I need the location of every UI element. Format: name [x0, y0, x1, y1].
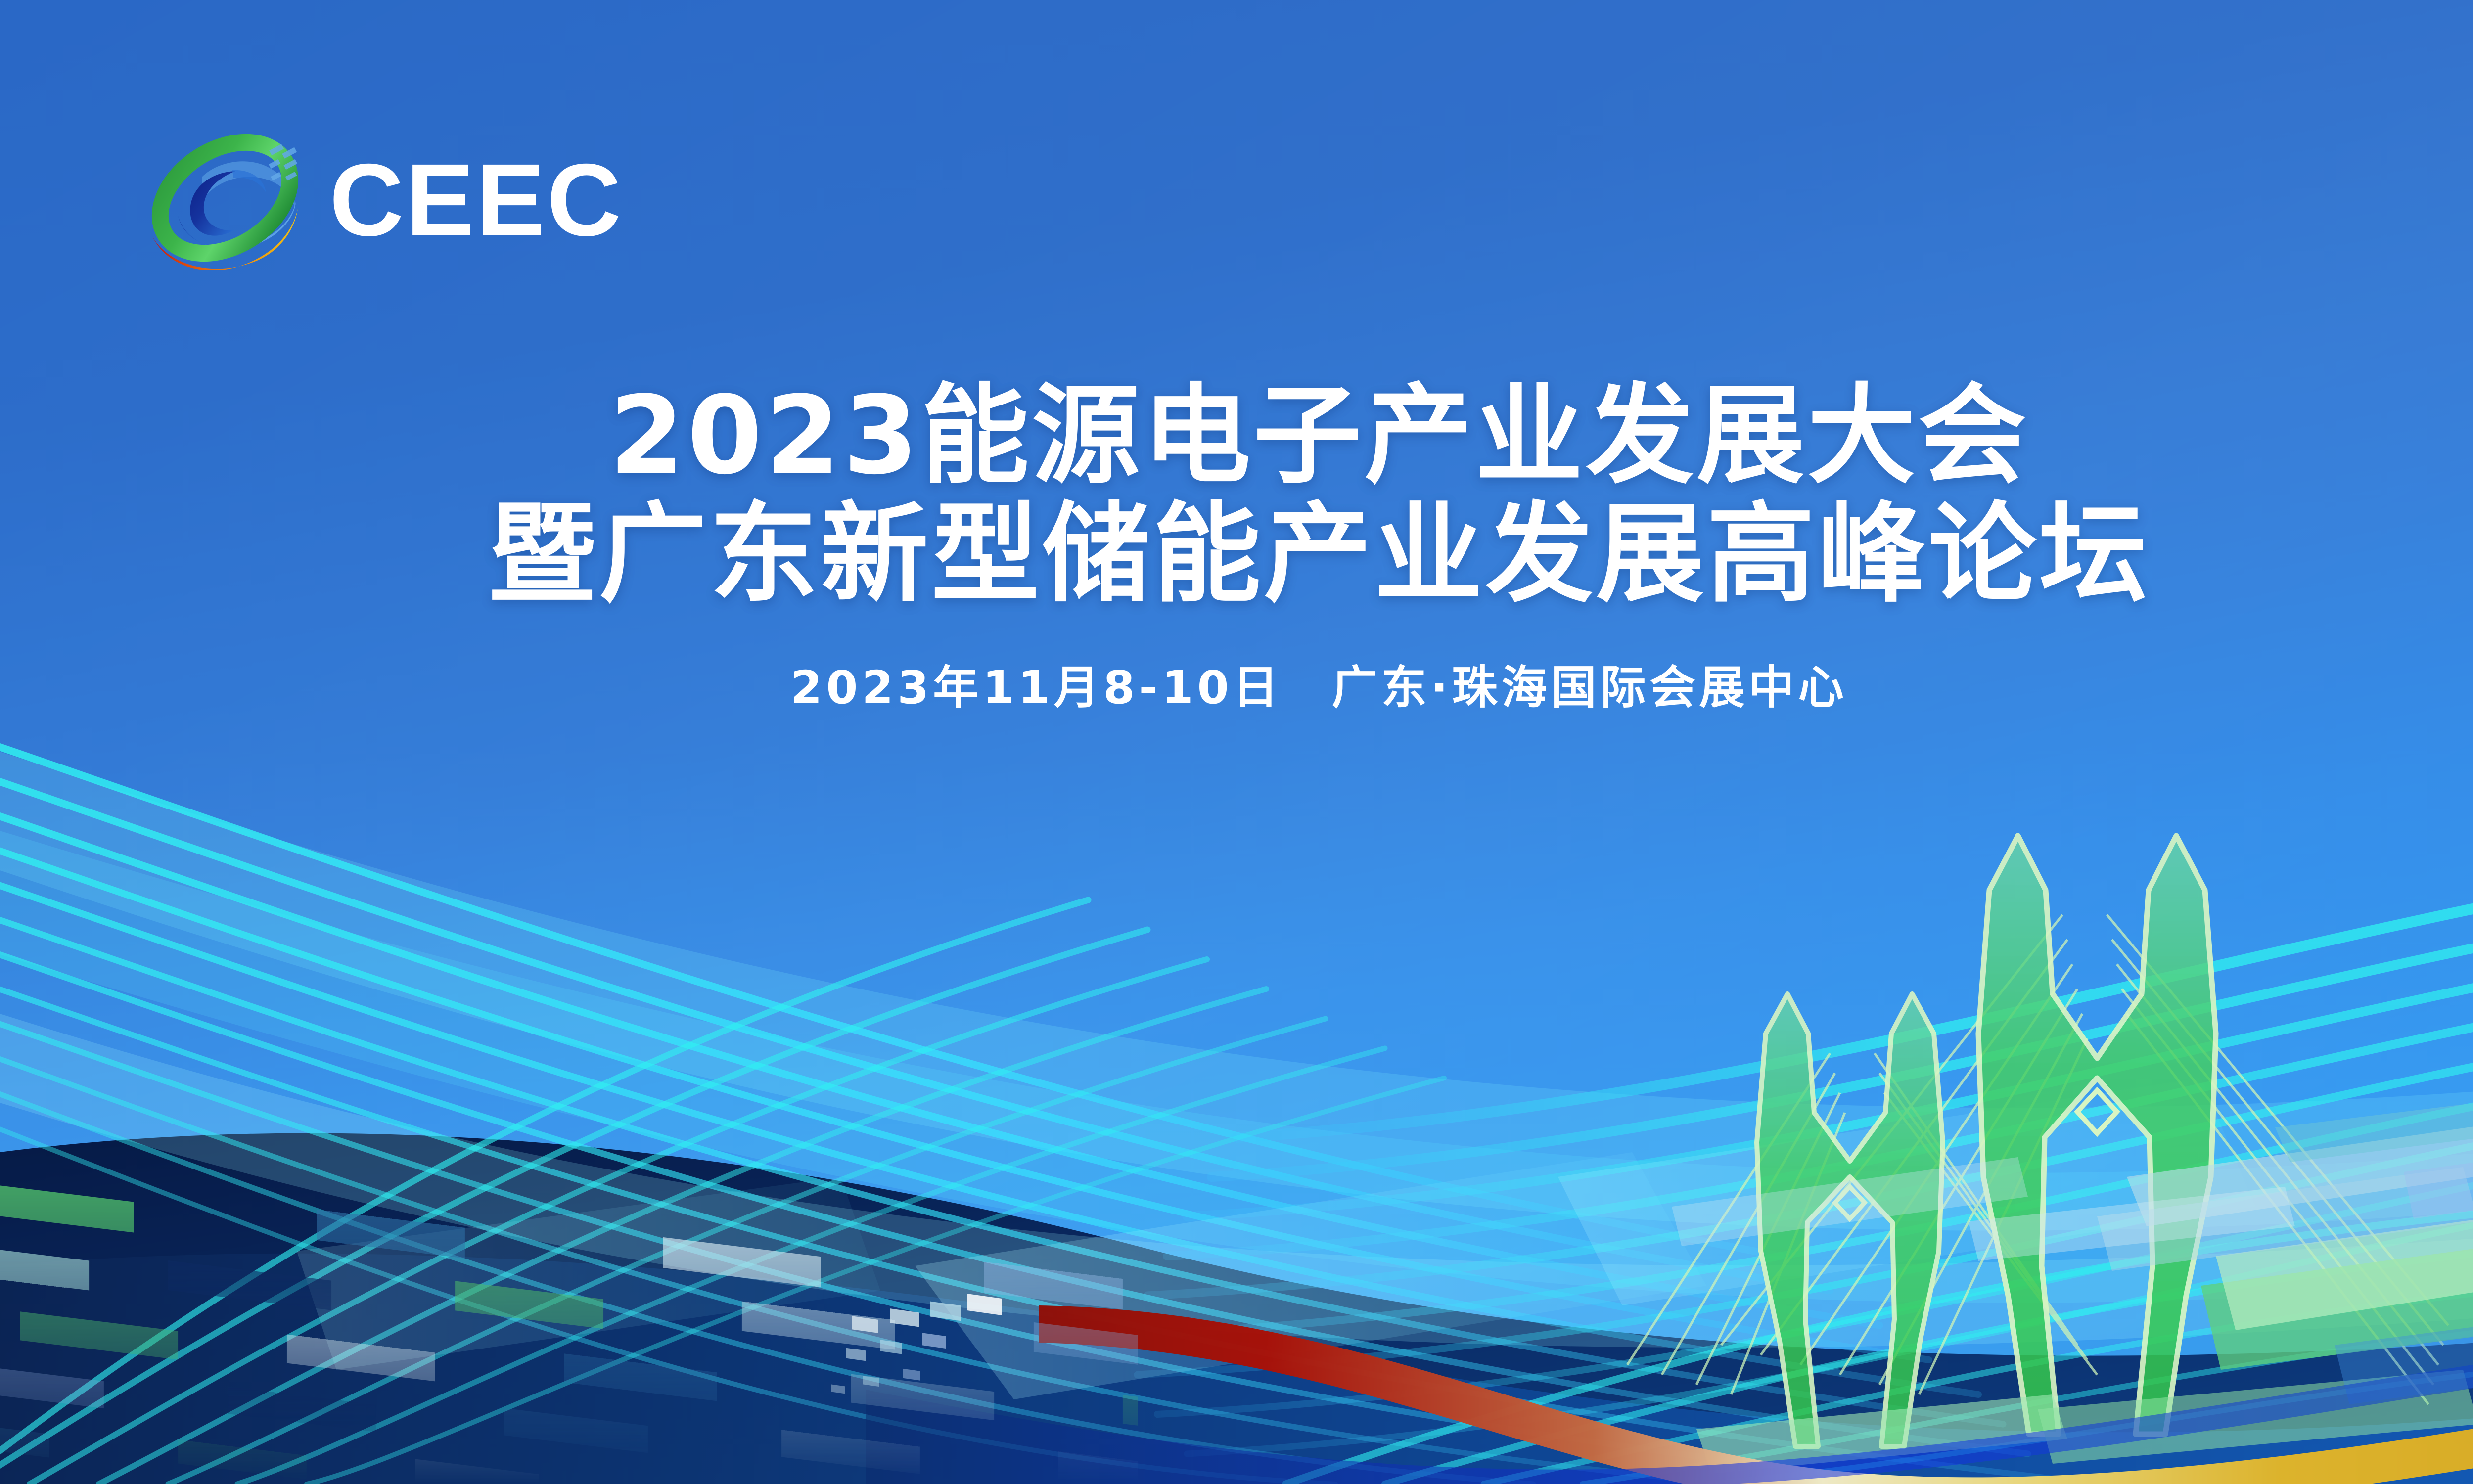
ceec-swirl-logo-icon: [143, 119, 307, 282]
date-and-venue-subtitle: 2023年11月8-10日 广东·珠海国际会展中心: [0, 651, 2473, 717]
title-block: 2023能源电子产业发展大会 暨广东新型储能产业发展高峰论坛 2023年11月8…: [0, 376, 2473, 717]
ceec-logo[interactable]: CEEC: [143, 119, 623, 282]
bridge-pylon-left: [1757, 994, 1943, 1446]
bridge-pylon-right: [1978, 836, 2216, 1434]
conference-title-line-1: 2023能源电子产业发展大会: [0, 376, 2473, 496]
ceec-wordmark: CEEC: [329, 149, 623, 252]
conference-title-line-2: 暨广东新型储能产业发展高峰论坛: [0, 495, 2473, 615]
conference-banner: CEEC 2023能源电子产业发展大会 暨广东新型储能产业发展高峰论坛 2023…: [0, 0, 2473, 1484]
